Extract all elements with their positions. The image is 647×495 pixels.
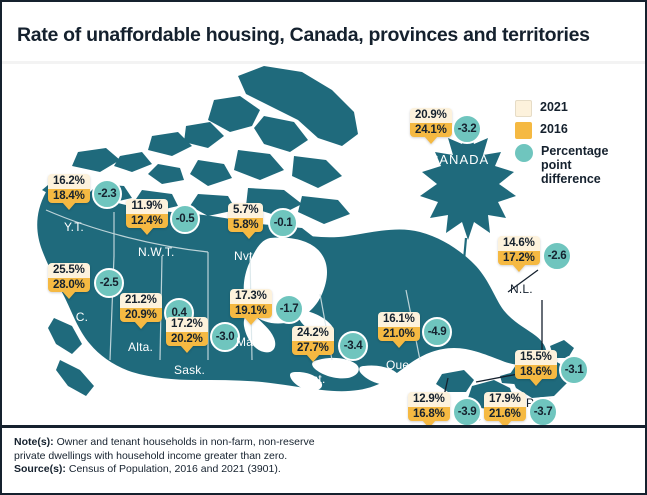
legend-item-difference[interactable]: Percentage point difference bbox=[515, 144, 640, 186]
legend-swatch-difference bbox=[515, 144, 533, 162]
callout-qc[interactable]: 16.1% 21.0% -4.9 bbox=[378, 312, 420, 342]
callout-tail-nl bbox=[512, 264, 526, 272]
callout-tail-yt bbox=[62, 202, 76, 210]
footer-notes-label: Note(s): bbox=[14, 436, 54, 448]
callout-tail-pe bbox=[529, 378, 543, 386]
value-2016-yt: 18.4% bbox=[48, 189, 90, 204]
callout-bubble-sk: 17.2% 20.2% bbox=[166, 317, 208, 346]
footer-notes-text-1: Owner and tenant households in non-farm,… bbox=[54, 436, 315, 448]
callout-bubble-mb: 17.3% 19.1% bbox=[230, 289, 272, 318]
value-2021-qc: 16.1% bbox=[378, 312, 420, 327]
difference-circle-nvt: -0.1 bbox=[268, 208, 298, 238]
callout-bubble-ab: 21.2% 20.9% bbox=[120, 293, 162, 322]
region-label-nwt: N.W.T. bbox=[138, 245, 175, 259]
difference-circle-nwt: -0.5 bbox=[170, 204, 200, 234]
value-2016-qc: 21.0% bbox=[378, 327, 420, 342]
value-2016-ns: 21.6% bbox=[484, 407, 526, 422]
value-2021-canada: 20.9% bbox=[410, 108, 452, 123]
region-label-mb: Man. bbox=[236, 335, 263, 349]
region-label-sk: Sask. bbox=[174, 363, 205, 377]
callout-bubble-yt: 16.2% 18.4% bbox=[48, 174, 90, 203]
title-bar: Rate of unaffordable housing, Canada, pr… bbox=[2, 2, 645, 64]
callout-yt[interactable]: 16.2% 18.4% -2.3 bbox=[48, 174, 90, 204]
region-label-canada: CANADA bbox=[429, 152, 489, 167]
region-label-nl: N.L. bbox=[510, 282, 533, 296]
callout-ns[interactable]: 17.9% 21.6% -3.7 bbox=[484, 392, 526, 422]
callout-canada[interactable]: 20.9% 24.1% -3.2 bbox=[410, 108, 452, 138]
callout-tail-sk bbox=[180, 345, 194, 353]
value-2021-on: 24.2% bbox=[292, 326, 334, 341]
value-2021-nl: 14.6% bbox=[498, 236, 540, 251]
callout-tail-qc bbox=[392, 340, 406, 348]
callout-pe[interactable]: 15.5% 18.6% -3.1 bbox=[515, 350, 557, 380]
infographic-page: Rate of unaffordable housing, Canada, pr… bbox=[0, 0, 647, 495]
region-label-on: Ont. bbox=[302, 372, 325, 386]
footer-source-label: Source(s): bbox=[14, 463, 66, 475]
callout-tail-canada bbox=[424, 136, 438, 144]
callout-bubble-on: 24.2% 27.7% bbox=[292, 326, 334, 355]
callout-tail-ab bbox=[134, 321, 148, 329]
legend-swatch-2021 bbox=[515, 100, 532, 117]
callout-nwt[interactable]: 11.9% 12.4% -0.5 bbox=[126, 199, 168, 229]
callout-nb[interactable]: 12.9% 16.8% -3.9 bbox=[408, 392, 450, 422]
difference-circle-qc: -4.9 bbox=[422, 317, 452, 347]
callout-tail-mb bbox=[244, 317, 258, 325]
difference-circle-mb: -1.7 bbox=[274, 294, 304, 324]
callout-sk[interactable]: 17.2% 20.2% -3.0 bbox=[166, 317, 208, 347]
region-label-ab: Alta. bbox=[128, 340, 153, 354]
value-2016-nwt: 12.4% bbox=[126, 214, 168, 229]
callout-bc[interactable]: 25.5% 28.0% -2.5 bbox=[48, 263, 90, 293]
value-2021-pe: 15.5% bbox=[515, 350, 557, 365]
value-2021-ns: 17.9% bbox=[484, 392, 526, 407]
callout-on[interactable]: 24.2% 27.7% -3.4 bbox=[292, 326, 334, 356]
value-2016-mb: 19.1% bbox=[230, 304, 272, 319]
value-2016-bc: 28.0% bbox=[48, 278, 90, 293]
legend-item-2021[interactable]: 2021 bbox=[515, 100, 640, 117]
region-label-nvt: Nvt. bbox=[234, 249, 256, 263]
value-2021-nwt: 11.9% bbox=[126, 199, 168, 214]
page-title: Rate of unaffordable housing, Canada, pr… bbox=[17, 24, 590, 47]
value-2021-sk: 17.2% bbox=[166, 317, 208, 332]
callout-bubble-ns: 17.9% 21.6% bbox=[484, 392, 526, 421]
callout-bubble-bc: 25.5% 28.0% bbox=[48, 263, 90, 292]
value-2016-nvt: 5.8% bbox=[228, 218, 263, 233]
callout-bubble-nl: 14.6% 17.2% bbox=[498, 236, 540, 265]
region-label-qc: Que. bbox=[386, 358, 413, 372]
legend-label-difference: Percentage point difference bbox=[541, 144, 629, 186]
footer-source-text: Census of Population, 2016 and 2021 (390… bbox=[66, 463, 281, 475]
difference-circle-on: -3.4 bbox=[338, 331, 368, 361]
difference-circle-ns: -3.7 bbox=[528, 397, 558, 427]
callout-tail-nvt bbox=[242, 231, 256, 239]
value-2016-pe: 18.6% bbox=[515, 365, 557, 380]
legend: 2021 2016 Percentage point difference bbox=[515, 100, 640, 191]
value-2016-sk: 20.2% bbox=[166, 332, 208, 347]
value-2016-canada: 24.1% bbox=[410, 123, 452, 138]
region-label-bc: B.C. bbox=[64, 310, 88, 324]
callout-bubble-nb: 12.9% 16.8% bbox=[408, 392, 450, 421]
footer: Note(s): Owner and tenant households in … bbox=[2, 425, 645, 493]
callout-bubble-qc: 16.1% 21.0% bbox=[378, 312, 420, 341]
legend-label-2016: 2016 bbox=[540, 122, 568, 136]
difference-circle-nb: -3.9 bbox=[452, 397, 482, 427]
callout-ab[interactable]: 21.2% 20.9% 0.4 bbox=[120, 293, 162, 323]
value-2021-bc: 25.5% bbox=[48, 263, 90, 278]
legend-swatch-2016 bbox=[515, 122, 532, 139]
value-2021-yt: 16.2% bbox=[48, 174, 90, 189]
value-2021-ab: 21.2% bbox=[120, 293, 162, 308]
difference-circle-yt: -2.3 bbox=[92, 179, 122, 209]
value-2021-nb: 12.9% bbox=[408, 392, 450, 407]
callout-tail-bc bbox=[62, 291, 76, 299]
value-2016-on: 27.7% bbox=[292, 341, 334, 356]
callout-nl[interactable]: 14.6% 17.2% -2.6 bbox=[498, 236, 540, 266]
callout-bubble-nvt: 5.7% 5.8% bbox=[228, 203, 263, 232]
callout-bubble-nwt: 11.9% 12.4% bbox=[126, 199, 168, 228]
value-2016-nl: 17.2% bbox=[498, 251, 540, 266]
callout-tail-on bbox=[306, 354, 320, 362]
footer-notes-line-2: private dwellings with household income … bbox=[14, 450, 633, 464]
callout-nvt[interactable]: 5.7% 5.8% -0.1 bbox=[228, 203, 263, 233]
value-2016-ab: 20.9% bbox=[120, 308, 162, 323]
difference-circle-nl: -2.6 bbox=[542, 241, 572, 271]
callout-bubble-pe: 15.5% 18.6% bbox=[515, 350, 557, 379]
callout-bubble-canada: 20.9% 24.1% bbox=[410, 108, 452, 137]
legend-item-2016[interactable]: 2016 bbox=[515, 122, 640, 139]
value-2021-mb: 17.3% bbox=[230, 289, 272, 304]
value-2016-nb: 16.8% bbox=[408, 407, 450, 422]
legend-label-2021: 2021 bbox=[540, 100, 568, 114]
footer-source-line: Source(s): Census of Population, 2016 an… bbox=[14, 463, 633, 477]
value-2021-nvt: 5.7% bbox=[228, 203, 263, 218]
callout-tail-nwt bbox=[140, 227, 154, 235]
difference-circle-canada: -3.2 bbox=[452, 114, 482, 144]
footer-notes-line-1: Note(s): Owner and tenant households in … bbox=[14, 436, 633, 450]
callout-mb[interactable]: 17.3% 19.1% -1.7 bbox=[230, 289, 272, 319]
difference-circle-pe: -3.1 bbox=[559, 355, 589, 385]
region-label-yt: Y.T. bbox=[64, 220, 84, 234]
